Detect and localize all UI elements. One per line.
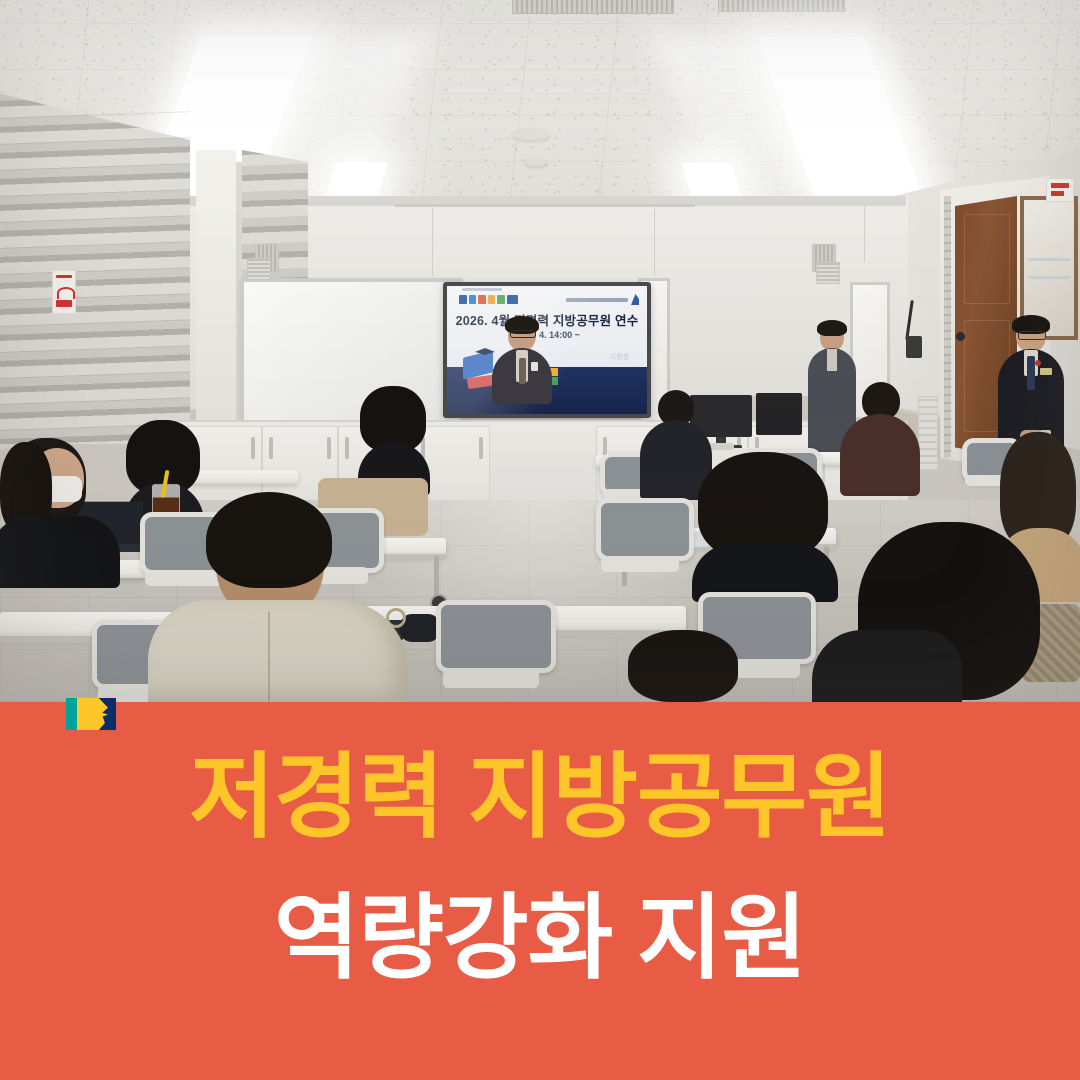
chair[interactable]: [436, 600, 546, 688]
presenter: [492, 318, 552, 404]
attendee-front-beige-jacket: [148, 500, 408, 702]
attendee-curly-hair: [698, 452, 828, 602]
staff1-shirt: [827, 349, 837, 371]
lapel-pin-icon: [1035, 360, 1041, 366]
fire-alarm-sign-icon: [52, 270, 76, 314]
smoke-detector-icon: [512, 128, 550, 140]
wall-seam: [654, 206, 655, 276]
jacket-seam: [268, 612, 270, 702]
wall-vent-right-icon: [816, 262, 840, 284]
wall-seam: [432, 206, 433, 276]
institute-face-profile-logo: [66, 698, 116, 730]
attendee-front-long-hair: [812, 522, 1056, 702]
monitor-right: [756, 393, 802, 435]
attendee-partial-front: [628, 630, 738, 702]
poster-card: 2026. 4월 저경력 지방공무원 연수 2026. 4. 14:00 ~ 지…: [0, 0, 1080, 1080]
attendee-top: [0, 516, 120, 588]
staff2-tie: [1027, 356, 1035, 390]
banner-title-block: 저경력 지방공무원 역량강화 지원: [0, 748, 1080, 987]
attendee-hair: [206, 492, 332, 588]
wall-seam: [864, 206, 865, 262]
ceiling-air-vent: [512, 0, 674, 14]
staff2-name-badge: [1040, 368, 1052, 375]
title-banner: 저경력 지방공무원 역량강화 지원: [0, 702, 1080, 1080]
desk-leg: [434, 556, 439, 596]
name-badge: [531, 362, 538, 371]
banner-title-line-2: 역량강화 지원: [0, 889, 1080, 988]
attendee-top: [840, 414, 920, 496]
door-hinge-strip: [944, 196, 951, 458]
attendee-hair: [628, 630, 738, 702]
door-handle[interactable]: [956, 332, 965, 341]
wall-control-box: [906, 336, 922, 358]
wall-radiator: [918, 396, 938, 470]
ceiling-air-vent-right: [718, 0, 845, 12]
wall-soffit-line: [395, 204, 695, 207]
chair[interactable]: [596, 498, 684, 572]
attendee-masked-woman: [0, 438, 120, 588]
staff1-hair: [817, 320, 847, 336]
glasses-icon: [510, 330, 536, 338]
sprinkler-icon: [525, 158, 547, 166]
attendee-jacket: [148, 600, 408, 702]
exit-sign-icon: [1046, 178, 1074, 202]
window-mullion-panel: [196, 150, 236, 450]
banner-title-line-1: 저경력 지방공무원: [0, 748, 1080, 847]
presenter-tie: [519, 358, 526, 384]
attendee-leather-jacket: [812, 630, 962, 702]
wall-vent-left-icon: [247, 258, 271, 280]
classroom-photo: 2026. 4월 저경력 지방공무원 연수 2026. 4. 14:00 ~ 지…: [0, 0, 1080, 702]
glasses-icon: [1018, 331, 1046, 340]
door-panel-upper: [964, 214, 1010, 304]
attendee-brown-shirt: [840, 382, 920, 496]
blind-slat-lines: [0, 92, 190, 444]
logo-stripe-teal: [66, 698, 77, 730]
whiteboard: [240, 278, 463, 428]
logo-stripe-navy: [97, 698, 116, 730]
face-profile-icon: [86, 698, 108, 730]
